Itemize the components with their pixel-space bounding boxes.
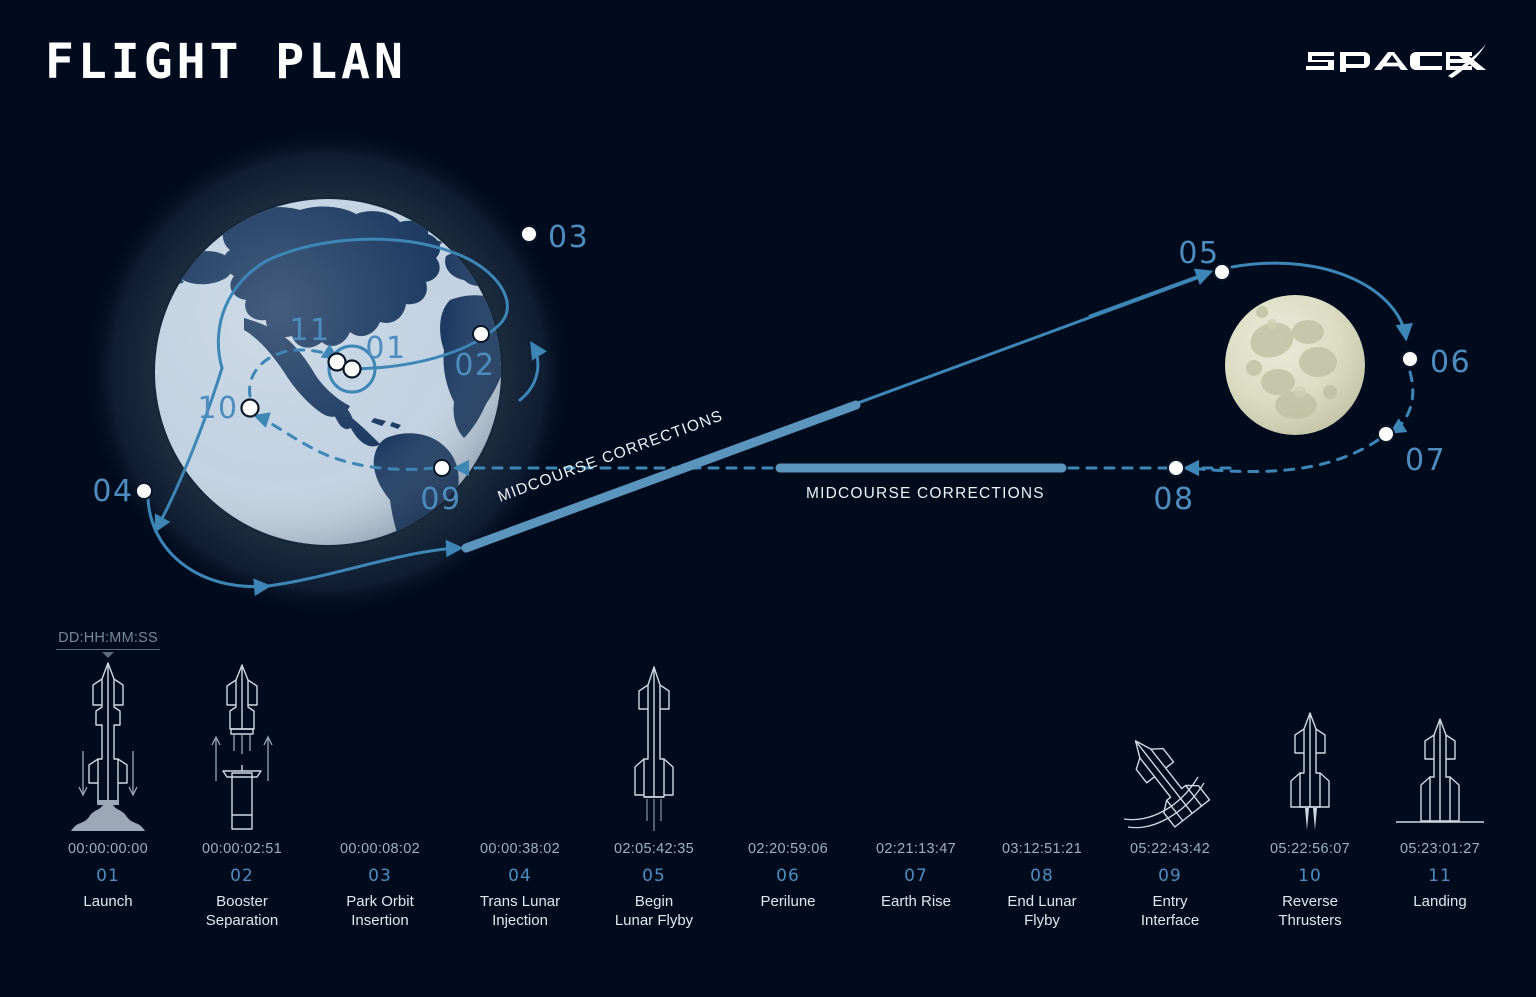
icon-slot-09	[1100, 640, 1240, 835]
timeline-time-07: 02:21:13:47	[846, 835, 986, 857]
timeline-number-01: 01	[38, 866, 178, 886]
waypoint-label-01: 01	[365, 331, 406, 366]
timeline-column-09[interactable]: 05:22:43:42 09 EntryInterface	[1100, 640, 1240, 930]
timeline-time-05: 02:05:42:35	[584, 835, 724, 857]
waypoint-label-07: 07	[1405, 443, 1446, 478]
waypoint-label-05: 05	[1178, 236, 1219, 271]
timeline-number-05: 05	[584, 866, 724, 886]
timeline-time-02: 00:00:02:51	[172, 835, 312, 857]
timeline-number-09: 09	[1100, 866, 1240, 886]
icon-slot-06	[718, 640, 858, 835]
waypoint-marker-08[interactable]	[1168, 460, 1184, 476]
icon-slot-01	[38, 640, 178, 835]
waypoint-label-02: 02	[454, 348, 495, 383]
timeline-label-08: End LunarFlyby	[972, 892, 1112, 930]
starship-launch-icon	[65, 655, 151, 835]
timeline-label-02: BoosterSeparation	[172, 892, 312, 930]
timeline-number-11: 11	[1370, 866, 1510, 886]
waypoint-label-10: 10	[197, 391, 238, 426]
waypoint-marker-06[interactable]	[1402, 351, 1418, 367]
waypoint-label-03: 03	[548, 220, 589, 255]
timeline-label-05: BeginLunar Flyby	[584, 892, 724, 930]
midcourse-horizontal: MIDCOURSE CORRECTIONS	[780, 468, 1062, 502]
moon-graphic	[1225, 295, 1365, 435]
timeline-time-04: 00:00:38:02	[450, 835, 590, 857]
timeline-number-04: 04	[450, 866, 590, 886]
icon-slot-05	[584, 640, 724, 835]
waypoint-marker-02[interactable]	[473, 326, 489, 342]
waypoint-label-11: 11	[289, 313, 330, 348]
waypoint-marker-09[interactable]	[434, 460, 450, 476]
timeline-column-01[interactable]: 00:00:00:00 01 Launch	[38, 640, 178, 911]
timeline-column-05[interactable]: 02:05:42:35 05 BeginLunar Flyby	[584, 640, 724, 930]
booster-separation-icon	[199, 655, 285, 835]
midcourse-label-2: MIDCOURSE CORRECTIONS	[806, 485, 1045, 502]
icon-slot-04	[450, 640, 590, 835]
waypoint-label-08: 08	[1153, 482, 1194, 517]
waypoint-marker-07[interactable]	[1378, 426, 1394, 442]
spacex-logo	[1296, 38, 1486, 84]
timeline-number-03: 03	[310, 866, 450, 886]
timeline-column-02[interactable]: 00:00:02:51 02 BoosterSeparation	[172, 640, 312, 930]
timeline-number-07: 07	[846, 866, 986, 886]
timeline-column-04[interactable]: 00:00:38:02 04 Trans LunarInjection	[450, 640, 590, 930]
icon-slot-07	[846, 640, 986, 835]
starship-coast-icon	[611, 655, 697, 835]
icon-slot-03	[310, 640, 450, 835]
timeline-time-06: 02:20:59:06	[718, 835, 858, 857]
waypoint-label-09: 09	[420, 482, 461, 517]
page-title: FLIGHT PLAN	[45, 38, 407, 86]
timeline-column-11[interactable]: 05:23:01:27 11 Landing	[1370, 640, 1510, 911]
timeline-column-08[interactable]: 03:12:51:21 08 End LunarFlyby	[972, 640, 1112, 930]
timeline-label-04: Trans LunarInjection	[450, 892, 590, 930]
icon-slot-10	[1240, 640, 1380, 835]
timeline-number-08: 08	[972, 866, 1112, 886]
trajectory-diagram: MIDCOURSE CORRECTIONS MIDCOURSE CORRECTI…	[0, 100, 1536, 640]
timeline-label-09: EntryInterface	[1100, 892, 1240, 930]
waypoint-marker-04[interactable]	[136, 483, 152, 499]
timeline-label-10: ReverseThrusters	[1240, 892, 1380, 930]
timeline-column-10[interactable]: 05:22:56:07 10 ReverseThrusters	[1240, 640, 1380, 930]
timeline-column-06[interactable]: 02:20:59:06 06 Perilune	[718, 640, 858, 911]
icon-slot-08	[972, 640, 1112, 835]
timeline-time-01: 00:00:00:00	[38, 835, 178, 857]
timeline-time-09: 05:22:43:42	[1100, 835, 1240, 857]
waypoint-label-06: 06	[1430, 345, 1471, 380]
timeline-time-08: 03:12:51:21	[972, 835, 1112, 857]
mission-timeline: DD:HH:MM:SS	[0, 640, 1536, 970]
timeline-number-06: 06	[718, 866, 858, 886]
timeline-column-03[interactable]: 00:00:08:02 03 Park OrbitInsertion	[310, 640, 450, 930]
flight-plan-poster: FLIGHT PLAN	[0, 0, 1536, 997]
timeline-number-02: 02	[172, 866, 312, 886]
timeline-label-07: Earth Rise	[846, 892, 986, 911]
timeline-time-10: 05:22:56:07	[1240, 835, 1380, 857]
timeline-label-01: Launch	[38, 892, 178, 911]
starship-thrust-icon	[1267, 655, 1353, 835]
timeline-label-06: Perilune	[718, 892, 858, 911]
timeline-label-03: Park OrbitInsertion	[310, 892, 450, 930]
arrow-to-05	[1090, 272, 1210, 316]
waypoint-marker-10[interactable]	[242, 400, 259, 417]
icon-slot-02	[172, 640, 312, 835]
icon-slot-11	[1370, 640, 1510, 835]
timeline-time-03: 00:00:08:02	[310, 835, 450, 857]
timeline-time-11: 05:23:01:27	[1370, 835, 1510, 857]
waypoint-marker-01[interactable]	[344, 361, 361, 378]
timeline-number-10: 10	[1240, 866, 1380, 886]
starship-entry-icon	[1110, 655, 1230, 835]
timeline-column-07[interactable]: 02:21:13:47 07 Earth Rise	[846, 640, 986, 911]
starship-landed-icon	[1390, 655, 1490, 835]
timeline-label-11: Landing	[1370, 892, 1510, 911]
waypoint-label-04: 04	[92, 474, 133, 509]
waypoint-marker-03[interactable]	[521, 226, 537, 242]
